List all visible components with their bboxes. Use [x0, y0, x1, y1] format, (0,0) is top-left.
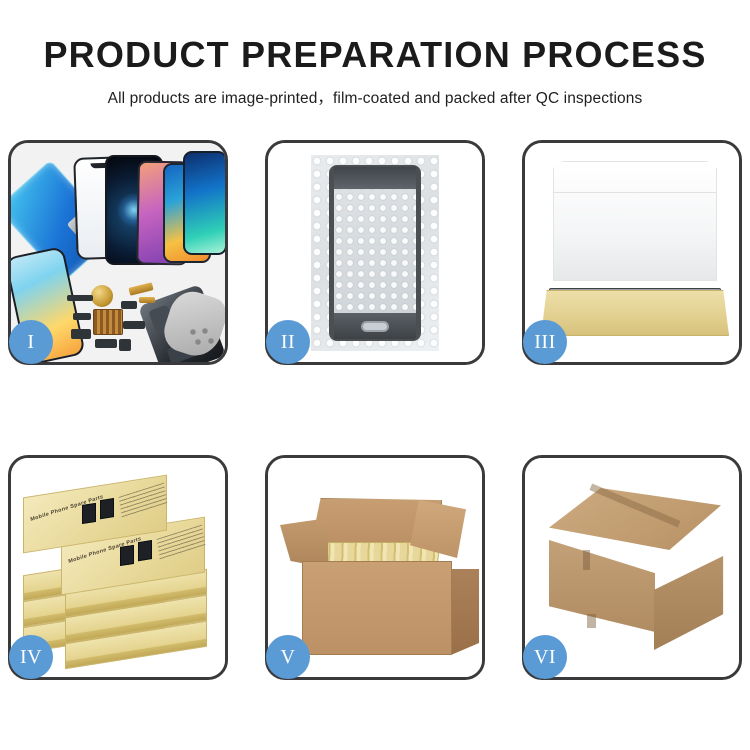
product-preparation-infographic: PRODUCT PREPARATION PROCESS All products… [0, 0, 750, 750]
box-product-photo-3 [120, 545, 134, 566]
spare-part-antenna-flex [123, 321, 145, 329]
kraft-box-base [541, 290, 729, 336]
step-badge-2: II [266, 320, 310, 364]
spare-part-connector-grid [93, 309, 123, 335]
box-product-photo-4 [138, 540, 152, 561]
box-product-photo-1 [82, 503, 96, 524]
process-step-6: VI [522, 455, 742, 680]
spare-part-flex-strip [67, 295, 93, 301]
spare-part-vibrator [119, 339, 131, 351]
step-badge-5: V [266, 635, 310, 679]
sealed-carton-front [549, 540, 655, 632]
spare-part-gold-clip [139, 297, 155, 303]
spare-part-screws [189, 328, 215, 348]
spare-part-camera-module [71, 329, 91, 339]
carton-side-panel [451, 569, 479, 655]
carton-front-panel [302, 561, 452, 655]
bubble-wrap-sheet [311, 155, 439, 351]
process-step-2: II [265, 140, 485, 365]
carton-flap-tab-lower [587, 614, 596, 628]
spare-part-speaker [95, 339, 117, 348]
retail-box-stack: Mobile Phone Spare Parts Mobile Phone Sp… [19, 472, 219, 668]
carton-flap-tab-upper [583, 550, 590, 570]
spare-part-button-flex [121, 301, 137, 309]
spare-part-gold-coil [91, 285, 113, 307]
step-badge-3: III [523, 320, 567, 364]
step-badge-6: VI [523, 635, 567, 679]
header: PRODUCT PREPARATION PROCESS All products… [0, 0, 750, 108]
process-step-5: V [265, 455, 485, 680]
sealed-carton-side [654, 556, 739, 650]
box-lid-white [553, 161, 717, 281]
process-step-3: III [522, 140, 742, 365]
process-step-1: I [8, 140, 228, 365]
spare-part-small-flex [73, 313, 91, 320]
box-spec-lines-1 [119, 483, 168, 519]
process-step-4: Mobile Phone Spare Parts Mobile Phone Sp… [8, 455, 228, 680]
phone-glass-panel [329, 165, 421, 341]
step-badge-4: IV [9, 635, 53, 679]
process-step-grid: I II III [8, 140, 742, 680]
sealed-carton-top [549, 488, 721, 550]
box-product-photo-2 [100, 498, 114, 519]
step-badge-1: I [9, 320, 53, 364]
home-button [361, 321, 389, 332]
spare-part-gold-connector [128, 282, 153, 296]
page-title: PRODUCT PREPARATION PROCESS [0, 36, 750, 74]
phone-screen-teal-display [183, 151, 225, 255]
page-subtitle: All products are image-printed，film-coat… [0, 86, 750, 108]
